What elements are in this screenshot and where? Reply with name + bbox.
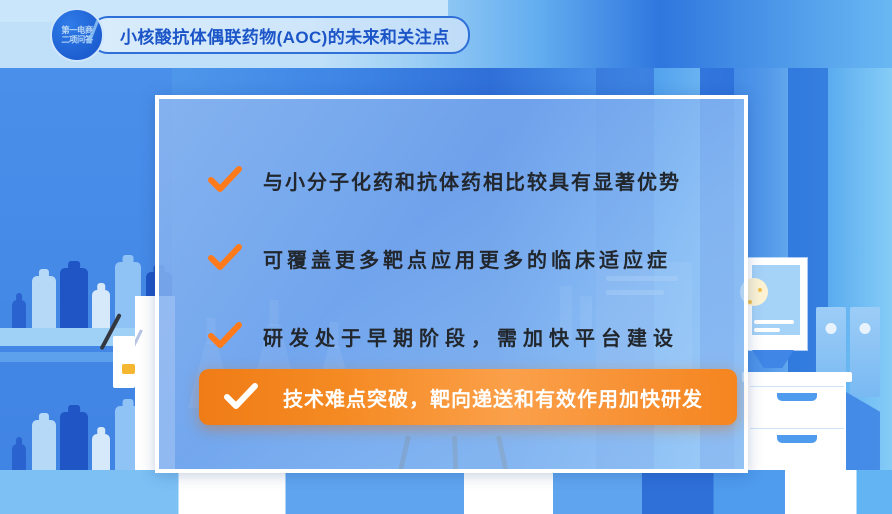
brand-logo-icon[interactable]: 第一电商 二项问答 (50, 8, 104, 62)
bullet-row-3[interactable]: 研发处于早期阶段，需加快平台建设 (159, 297, 744, 375)
bullet-row-4-highlighted[interactable]: 技术难点突破，靶向递送和有效作用加快研发 (199, 369, 737, 425)
page-title: 小核酸抗体偶联药物(AOC)的未来和关注点 (120, 23, 450, 48)
dot-icon (748, 300, 752, 304)
bullet-row-1-label: 与小分子化药和抗体药相比较具有显著优势 (263, 166, 681, 195)
drawer (750, 428, 844, 469)
floor-strip (0, 470, 892, 514)
binder-hole-icon (826, 323, 837, 334)
check-icon (205, 166, 245, 194)
drawer-handle-icon (777, 393, 817, 401)
check-icon (205, 244, 245, 272)
bottle (60, 268, 88, 334)
bottle (60, 412, 88, 478)
binder-hole-icon (860, 323, 871, 334)
bullet-row-1[interactable]: 与小分子化药和抗体药相比较具有显著优势 (159, 141, 744, 219)
screenshot-stage: 与小分子化药和抗体药相比较具有显著优势 可覆盖更多靶点应用更多的临床适应症 研发… (0, 0, 892, 514)
header-title-bar: 第一电商 二项问答 小核酸抗体偶联药物(AOC)的未来和关注点 (50, 13, 470, 57)
monitor-line (754, 320, 794, 324)
note-card (113, 336, 135, 388)
binder-2 (850, 307, 880, 397)
bullet-row-2-label: 可覆盖更多靶点应用更多的临床适应症 (263, 244, 671, 273)
bullet-row-2[interactable]: 可覆盖更多靶点应用更多的临床适应症 (159, 219, 744, 297)
dot-icon (758, 288, 762, 292)
content-panel: 与小分子化药和抗体药相比较具有显著优势 可覆盖更多靶点应用更多的临床适应症 研发… (155, 95, 748, 473)
bullet-row-4-label: 技术难点突破，靶向递送和有效作用加快研发 (283, 383, 703, 412)
note-card-tab-icon (122, 364, 135, 374)
bullet-list: 与小分子化药和抗体药相比较具有显著优势 可覆盖更多靶点应用更多的临床适应症 研发… (159, 99, 744, 469)
bullet-row-3-label: 研发处于早期阶段，需加快平台建设 (263, 322, 679, 351)
bottle (32, 276, 56, 334)
check-icon (221, 383, 261, 411)
page-title-pill: 小核酸抗体偶联药物(AOC)的未来和关注点 (90, 16, 470, 54)
check-icon (205, 322, 245, 350)
drawer-handle-icon (777, 435, 817, 443)
monitor-line (754, 328, 780, 332)
drawer (750, 386, 844, 427)
